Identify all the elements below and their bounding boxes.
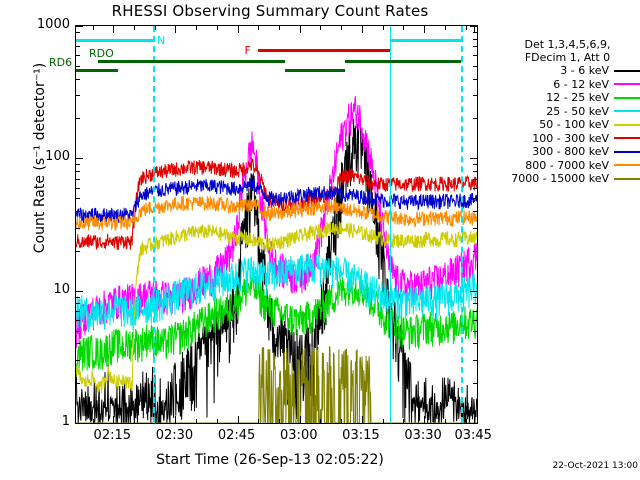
x-tick-minor <box>341 419 342 423</box>
rd6-bar <box>76 69 118 72</box>
x-tick-minor <box>196 26 197 30</box>
legend-color-swatch <box>614 164 640 166</box>
y-tick <box>76 331 80 332</box>
x-tick <box>300 26 301 33</box>
x-tick-minor <box>466 419 467 423</box>
x-tick <box>474 26 475 33</box>
y-tick <box>473 118 477 119</box>
y-tick <box>473 331 477 332</box>
x-tick-minor <box>279 26 280 30</box>
x-tick-minor <box>383 419 384 423</box>
y-tick <box>76 320 80 321</box>
y-tick <box>470 423 477 424</box>
x-tick-minor <box>403 26 404 30</box>
rdo-bar-1 <box>98 60 284 63</box>
x-tick <box>175 26 176 33</box>
x-tick-minor <box>403 419 404 423</box>
legend-color-swatch <box>614 70 640 72</box>
y-tick <box>473 79 477 80</box>
legend-header-line2: FDecim 1, Att 0 <box>495 51 640 64</box>
y-tick <box>76 297 80 298</box>
y-tick <box>473 303 477 304</box>
y-tick-label: 1000 <box>26 17 70 32</box>
y-tick <box>473 39 477 40</box>
x-tick-minor <box>196 419 197 423</box>
x-tick-label: 02:45 <box>207 428 267 443</box>
y-tick <box>473 179 477 180</box>
legend-entry-4: 50 - 100 keV <box>495 118 640 132</box>
y-tick <box>473 251 477 252</box>
x-tick-label: 03:45 <box>443 428 503 443</box>
x-tick-minor <box>93 26 94 30</box>
legend-label: 100 - 300 keV <box>532 132 609 146</box>
x-tick-minor <box>466 26 467 30</box>
y-tick <box>76 198 80 199</box>
y-tick <box>76 303 80 304</box>
rdo-bar-3 <box>285 69 345 72</box>
y-tick <box>470 291 477 292</box>
data-curves <box>76 26 477 423</box>
x-tick-minor <box>217 419 218 423</box>
x-tick <box>424 26 425 33</box>
legend-color-swatch <box>614 110 640 112</box>
legend-label: 6 - 12 keV <box>553 78 609 92</box>
y-tick <box>76 291 83 292</box>
x-tick <box>424 416 425 423</box>
x-tick-minor <box>383 26 384 30</box>
legend-entries: 3 - 6 keV6 - 12 keV12 - 25 keV25 - 50 ke… <box>495 64 640 186</box>
x-axis-label: Start Time (26-Sep-13 02:05:22) <box>60 452 480 468</box>
legend-entry-3: 25 - 50 keV <box>495 105 640 119</box>
y-tick <box>473 198 477 199</box>
y-tick <box>76 26 83 27</box>
x-tick-minor <box>320 26 321 30</box>
legend-color-swatch <box>614 83 640 85</box>
x-tick-label: 02:15 <box>82 428 142 443</box>
y-tick <box>76 95 80 96</box>
y-tick-label: 1 <box>26 414 70 429</box>
y-tick <box>76 118 80 119</box>
y-tick <box>76 171 80 172</box>
vline-right <box>461 26 463 423</box>
legend-color-swatch <box>614 97 640 99</box>
y-tick <box>473 66 477 67</box>
legend-color-swatch <box>614 178 640 180</box>
legend-entry-2: 12 - 25 keV <box>495 91 640 105</box>
legend-entry-0: 3 - 6 keV <box>495 64 640 78</box>
x-tick <box>300 416 301 423</box>
rdo-bar-2 <box>345 60 461 63</box>
x-tick-minor <box>217 26 218 30</box>
x-tick-minor <box>341 26 342 30</box>
page-title: RHESSI Observing Summary Count Rates <box>0 2 540 20</box>
y-tick <box>76 55 80 56</box>
y-tick <box>76 383 80 384</box>
x-tick-minor <box>134 26 135 30</box>
y-tick <box>76 66 80 67</box>
y-tick <box>473 311 477 312</box>
y-tick <box>76 32 80 33</box>
y-tick <box>473 55 477 56</box>
x-tick <box>474 416 475 423</box>
plot-area: RDORD6NF <box>75 25 478 424</box>
y-tick <box>473 46 477 47</box>
vline-night-end <box>390 26 391 423</box>
x-tick-label: 03:00 <box>269 428 329 443</box>
x-tick-minor <box>258 419 259 423</box>
x-tick-minor <box>93 419 94 423</box>
legend-label: 300 - 800 keV <box>532 145 609 159</box>
y-tick <box>470 158 477 159</box>
legend-label: 3 - 6 keV <box>560 64 609 78</box>
x-tick <box>362 26 363 33</box>
y-axis-tick-labels: 1101001000 <box>20 25 70 424</box>
legend-color-swatch <box>614 151 640 153</box>
y-tick <box>473 383 477 384</box>
x-tick <box>113 26 114 33</box>
x-tick <box>238 416 239 423</box>
y-tick <box>76 211 80 212</box>
x-tick <box>113 416 114 423</box>
flare-bar <box>258 49 390 52</box>
y-tick <box>76 423 83 424</box>
y-tick <box>473 360 477 361</box>
legend-color-swatch <box>614 124 640 126</box>
y-tick <box>76 343 80 344</box>
x-tick-minor <box>258 26 259 30</box>
legend-entry-8: 7000 - 15000 keV <box>495 172 640 186</box>
x-tick-minor <box>134 419 135 423</box>
x-tick-minor <box>279 419 280 423</box>
legend-label: 25 - 50 keV <box>546 105 609 119</box>
y-tick <box>76 46 80 47</box>
legend-entry-5: 100 - 300 keV <box>495 132 640 146</box>
marker-label-N: N <box>157 34 165 47</box>
legend-label: 50 - 100 keV <box>539 118 609 132</box>
y-tick <box>76 360 80 361</box>
y-tick <box>473 320 477 321</box>
legend-color-swatch <box>614 137 640 139</box>
x-tick-minor <box>320 419 321 423</box>
y-tick <box>76 311 80 312</box>
x-tick <box>175 416 176 423</box>
legend-header-line1: Det 1,3,4,5,6,9, <box>495 38 640 51</box>
legend-label: 7000 - 15000 keV <box>511 172 609 186</box>
y-tick <box>473 95 477 96</box>
y-tick <box>76 158 83 159</box>
legend-entry-7: 800 - 7000 keV <box>495 159 640 173</box>
x-tick-label: 02:30 <box>144 428 204 443</box>
legend-label: 800 - 7000 keV <box>525 159 609 173</box>
y-tick-label: 100 <box>26 149 70 164</box>
y-tick <box>76 188 80 189</box>
night-bar-1 <box>76 39 153 42</box>
render-timestamp: 22-Oct-2021 13:00 <box>500 461 638 471</box>
rdo-label: RDO <box>89 47 114 60</box>
x-tick-minor <box>445 26 446 30</box>
y-tick <box>76 79 80 80</box>
y-tick <box>473 188 477 189</box>
y-tick <box>473 228 477 229</box>
chart-root: RHESSI Observing Summary Count Rates Cou… <box>0 0 640 480</box>
rd6-label: RD6 <box>49 56 72 69</box>
y-tick <box>76 251 80 252</box>
legend-entry-6: 300 - 800 keV <box>495 145 640 159</box>
y-tick <box>76 228 80 229</box>
legend-label: 12 - 25 keV <box>546 91 609 105</box>
vline-night-start <box>153 26 155 423</box>
y-tick <box>76 179 80 180</box>
y-tick <box>473 164 477 165</box>
marker-label-F: F <box>244 44 250 57</box>
x-tick-label: 03:15 <box>331 428 391 443</box>
x-tick <box>238 26 239 33</box>
x-tick <box>362 416 363 423</box>
y-tick <box>76 164 80 165</box>
x-tick-minor <box>445 419 446 423</box>
y-tick-label: 10 <box>26 282 70 297</box>
legend: Det 1,3,4,5,6,9, FDecim 1, Att 0 3 - 6 k… <box>495 38 640 186</box>
y-tick <box>473 211 477 212</box>
legend-entry-1: 6 - 12 keV <box>495 78 640 92</box>
night-bar-2 <box>390 39 461 42</box>
y-tick <box>473 297 477 298</box>
y-tick <box>473 171 477 172</box>
y-tick <box>473 343 477 344</box>
